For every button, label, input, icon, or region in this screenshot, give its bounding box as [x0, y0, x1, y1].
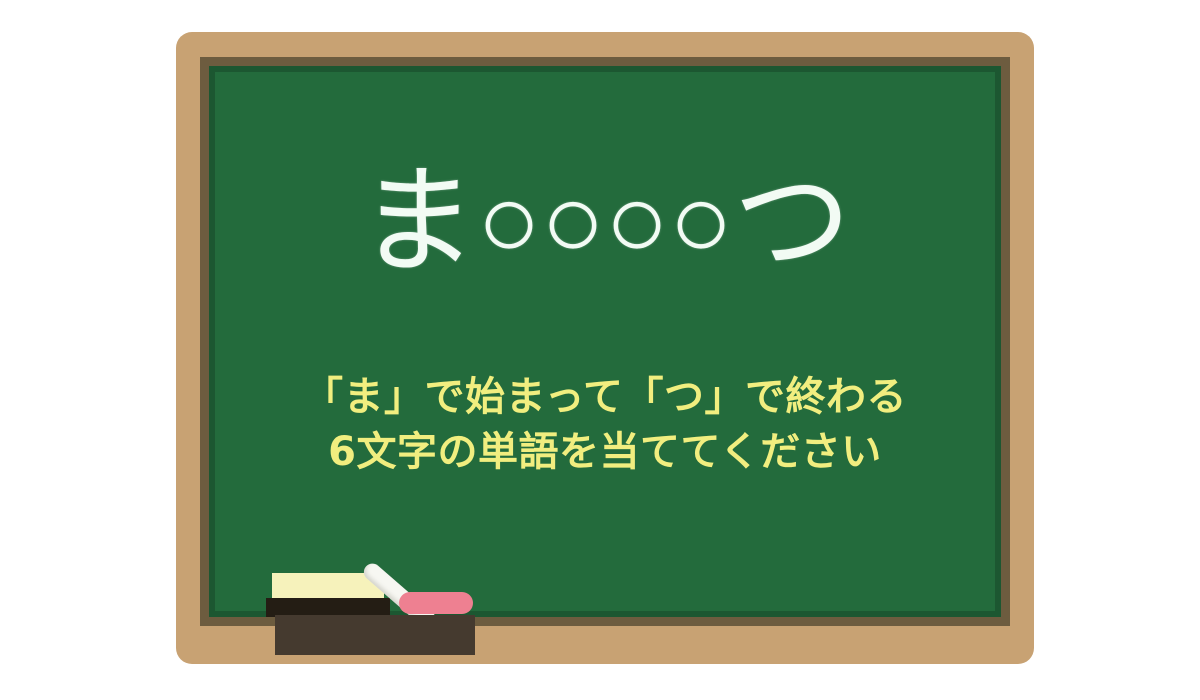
puzzle-char-5-blank: ○: [669, 168, 733, 274]
puzzle-char-6-given: つ: [733, 162, 851, 280]
blackboard-rim: ま ○ ○ ○ ○ つ 「ま」で始まって「つ」で終わる 6文字の単語を当ててくだ…: [209, 66, 1001, 617]
blackboard-bevel: ま ○ ○ ○ ○ つ 「ま」で始まって「つ」で終わる 6文字の単語を当ててくだ…: [200, 57, 1010, 626]
puzzle-char-3-blank: ○: [541, 168, 605, 274]
chalk-tray: [275, 615, 475, 655]
puzzle-char-4-blank: ○: [605, 168, 669, 274]
blackboard-surface: ま ○ ○ ○ ○ つ 「ま」で始まって「つ」で終わる 6文字の単語を当ててくだ…: [215, 72, 995, 611]
puzzle-char-1-given: ま: [359, 162, 477, 280]
blackboard-frame: ま ○ ○ ○ ○ つ 「ま」で始まって「つ」で終わる 6文字の単語を当ててくだ…: [176, 32, 1034, 664]
hint-line-1: 「ま」で始まって「つ」で終わる: [215, 370, 995, 425]
hint-text-block: 「ま」で始まって「つ」で終わる 6文字の単語を当ててください: [215, 370, 995, 480]
pink-chalk-icon: [399, 592, 473, 614]
screenshot-canvas: ま ○ ○ ○ ○ つ 「ま」で始まって「つ」で終わる 6文字の単語を当ててくだ…: [0, 0, 1200, 700]
puzzle-character-row: ま ○ ○ ○ ○ つ: [215, 156, 995, 286]
hint-line-2: 6文字の単語を当ててください: [215, 425, 995, 480]
puzzle-char-2-blank: ○: [477, 168, 541, 274]
